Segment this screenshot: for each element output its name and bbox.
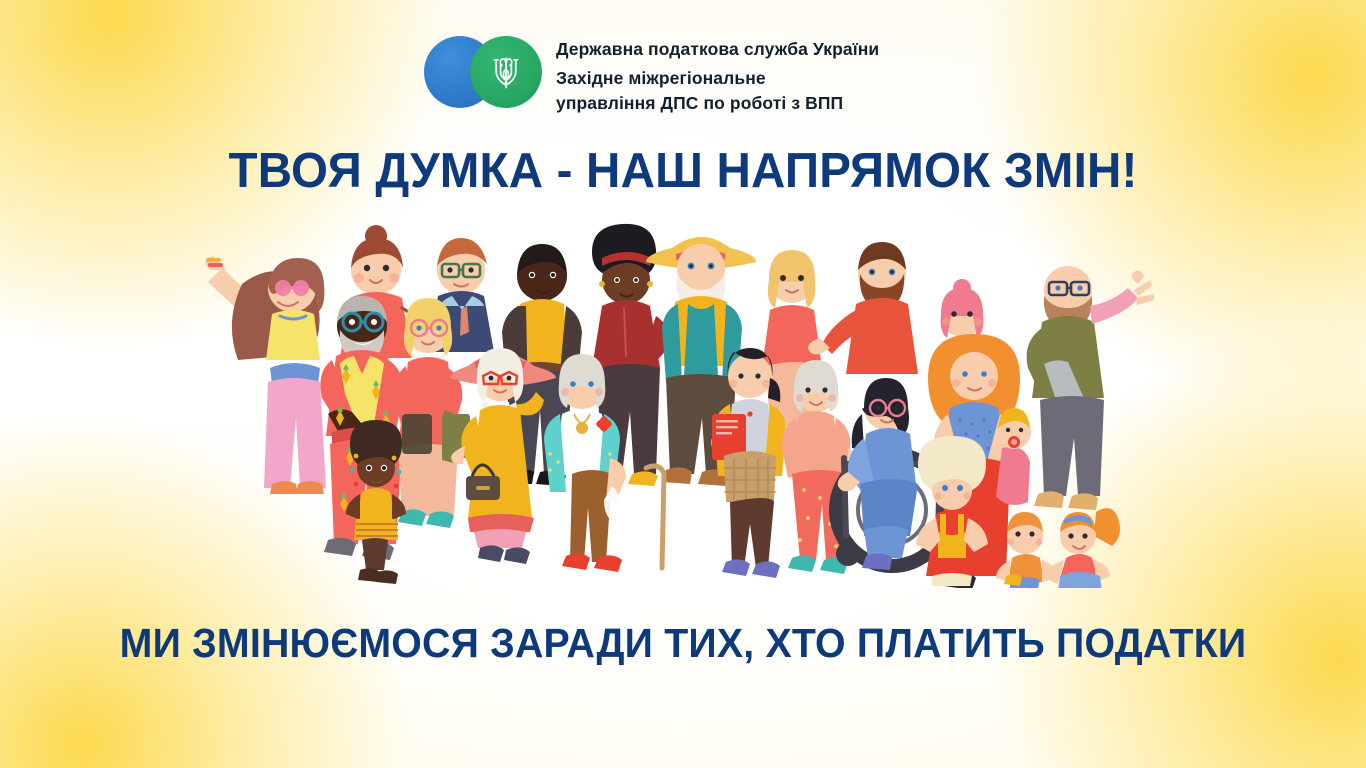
- person-bearded-man: [808, 242, 918, 374]
- page-footer-slogan: МИ ЗМІНЮЄМОСЯ ЗАРАДИ ТИХ, ХТО ПЛАТИТЬ ПО…: [20, 620, 1345, 667]
- organisation-name: Державна податкова служба України: [556, 37, 879, 62]
- person-pink-hat-lady: [450, 348, 556, 564]
- baby: [996, 408, 1031, 505]
- crowd-illustration: .sk-l{fill:#f8cdab}.sk-m{fill:#dd9c6f}.s…: [180, 218, 1170, 588]
- unit-name-line-2: управління ДПС по роботі з ВПП: [556, 91, 879, 116]
- brand-header: Державна податкова служба України Західн…: [424, 36, 879, 116]
- child-girl-ponytail: [1044, 508, 1120, 588]
- unit-name-line-1: Західне міжрегіональне: [556, 66, 879, 91]
- logo: [424, 36, 542, 108]
- brand-text-block: Державна податкова служба України Західн…: [556, 36, 879, 116]
- ukraine-trident-icon: [470, 36, 542, 108]
- handbag-back: [402, 414, 432, 454]
- page-title: ТВОЯ ДУМКА - НАШ НАПРЯМОК ЗМІН!: [20, 143, 1345, 199]
- person-waving-woman: [205, 256, 326, 494]
- banner-canvas: Державна податкова служба України Західн…: [0, 0, 1366, 768]
- person-olive-sweater-man: [1027, 266, 1154, 510]
- child-girl-with-beads: [346, 420, 406, 584]
